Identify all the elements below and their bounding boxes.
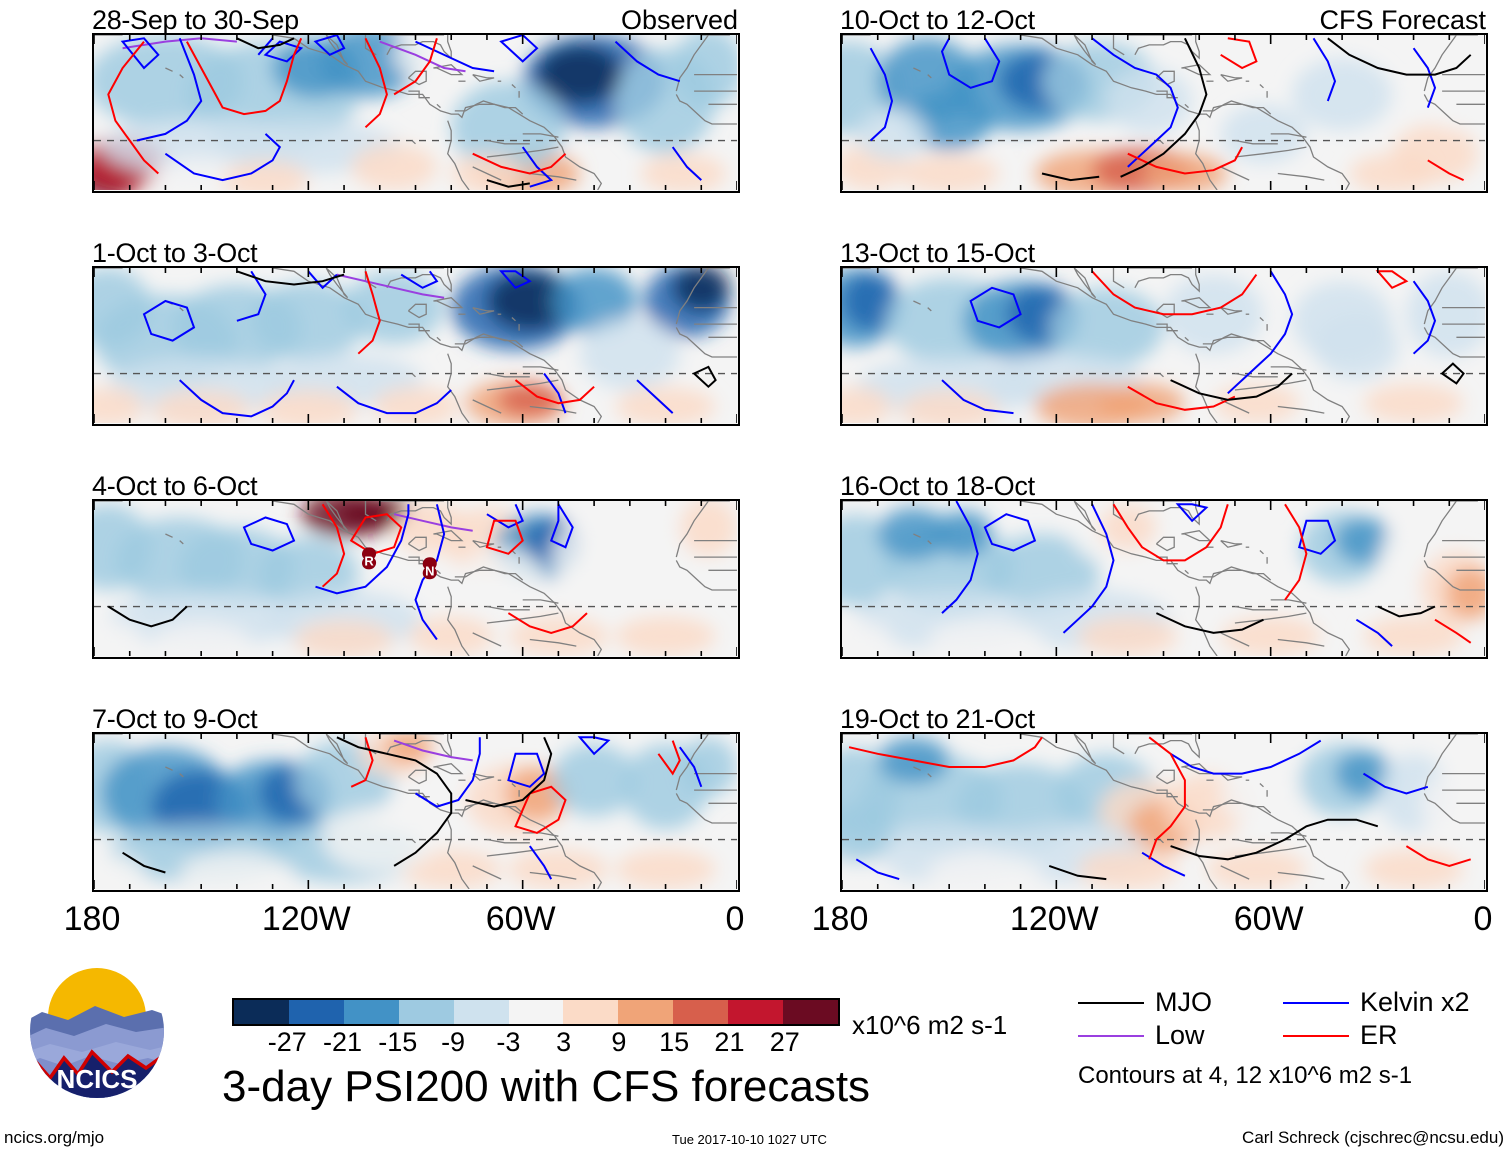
map-panel: 4-Oct to 6-OctRN — [92, 499, 740, 659]
panel-title: 19-Oct to 21-Oct — [840, 704, 1035, 735]
tropical-cyclone-label: N — [425, 563, 434, 578]
map-area — [840, 33, 1488, 193]
field-shading — [537, 45, 623, 104]
footer-timestamp: Tue 2017-10-10 1027 UTC — [672, 1132, 827, 1147]
map-field — [94, 268, 737, 423]
legend-label: ER — [1360, 1020, 1398, 1051]
tropical-cyclone-label: R — [364, 553, 374, 568]
map-panel: 10-Oct to 12-OctCFS Forecast — [840, 33, 1488, 193]
main-title: 3-day PSI200 with CFS forecasts — [222, 1062, 870, 1112]
field-shading — [1078, 849, 1178, 889]
colorbar-segment — [234, 1000, 289, 1024]
logo-text: NCICS — [57, 1064, 138, 1094]
x-axis-label: 180 — [64, 900, 121, 939]
map-panel: 1-Oct to 3-Oct — [92, 266, 740, 426]
legend-line-icon — [1283, 1035, 1349, 1037]
field-shading — [1206, 849, 1306, 889]
colorbar-tick-label: -3 — [496, 1027, 520, 1058]
panel-title: 4-Oct to 6-Oct — [92, 471, 257, 502]
map-field: RN — [94, 501, 737, 656]
legend-note: Contours at 4, 12 x10^6 m2 s-1 — [1078, 1062, 1412, 1090]
field-shading — [856, 108, 927, 161]
field-shading — [1292, 58, 1392, 131]
field-shading — [498, 383, 562, 416]
tropical-cyclone-symbol: N — [423, 557, 437, 579]
colorbar-tick-label: -9 — [441, 1027, 465, 1058]
legend-item-low: Low — [1078, 1019, 1283, 1052]
map-panel: 19-Oct to 21-Oct — [840, 732, 1488, 892]
map-panel: 7-Oct to 9-Oct — [92, 732, 740, 892]
colorbar-tick-label: 27 — [770, 1027, 800, 1058]
colorbar-segment — [618, 1000, 673, 1024]
field-shading — [1364, 383, 1464, 423]
panel-column-header: Observed — [621, 5, 738, 36]
panel-title: 1-Oct to 3-Oct — [92, 238, 257, 269]
field-shading — [351, 144, 437, 190]
colorbar-segment — [454, 1000, 509, 1024]
panel-title: 28-Sep to 30-Sep — [92, 5, 299, 36]
x-axis-label: 0 — [1474, 900, 1493, 939]
map-field — [842, 501, 1485, 656]
colorbar-tick-label: 21 — [714, 1027, 744, 1058]
legend-label: MJO — [1155, 987, 1212, 1018]
footer-website[interactable]: ncics.org/mjo — [4, 1128, 104, 1148]
colorbar-segments — [232, 998, 840, 1026]
colorbar-tick-label: 9 — [611, 1027, 626, 1058]
legend-row: MJO Kelvin x2 — [1078, 986, 1498, 1019]
map-field — [842, 268, 1485, 423]
field-shading — [616, 849, 716, 889]
field-shading — [1314, 314, 1400, 380]
ncics-logo: NCICS — [20, 962, 175, 1100]
map-field — [94, 35, 737, 190]
legend-item-er: ER — [1283, 1019, 1488, 1052]
map-field — [842, 35, 1485, 190]
colorbar-segment — [728, 1000, 783, 1024]
x-axis-label: 60W — [1234, 900, 1304, 939]
colorbar-segment — [563, 1000, 618, 1024]
map-panel: 28-Sep to 30-SepObserved — [92, 33, 740, 193]
map-area: RN — [92, 499, 740, 659]
x-axis-label: 0 — [726, 900, 745, 939]
map-panel: 13-Oct to 15-Oct — [840, 266, 1488, 426]
map-area — [840, 732, 1488, 892]
x-axis-label: 60W — [486, 900, 556, 939]
field-shading — [616, 616, 716, 656]
legend: MJO Kelvin x2 Low ER — [1078, 986, 1498, 1052]
map-area — [92, 33, 740, 193]
field-shading — [344, 271, 444, 344]
panel-title: 13-Oct to 15-Oct — [840, 238, 1035, 269]
panel-title: 7-Oct to 9-Oct — [92, 704, 257, 735]
colorbar-tick-label: -21 — [323, 1027, 362, 1058]
map-area — [840, 499, 1488, 659]
map-field — [842, 734, 1485, 889]
colorbar-segment — [289, 1000, 344, 1024]
colorbar-segment — [399, 1000, 454, 1024]
legend-line-icon — [1078, 1035, 1144, 1037]
field-shading — [1364, 849, 1464, 889]
x-axis-label: 120W — [262, 900, 351, 939]
map-area — [92, 732, 740, 892]
colorbar-ticks: -27-21-15-9-339152127 — [232, 1027, 840, 1059]
map-area — [92, 266, 740, 426]
legend-line-icon — [1283, 1002, 1349, 1004]
colorbar-tick-label: 15 — [659, 1027, 689, 1058]
legend-line-icon — [1078, 1002, 1144, 1004]
x-axis-label: 180 — [812, 900, 869, 939]
footer-author: Carl Schreck (cjschrec@ncsu.edu) — [1242, 1128, 1504, 1148]
legend-label: Kelvin x2 — [1360, 987, 1470, 1018]
legend-label: Low — [1155, 1020, 1205, 1051]
legend-row: Low ER — [1078, 1019, 1498, 1052]
tropical-cyclone-symbol: R — [362, 547, 376, 569]
panel-column-header: CFS Forecast — [1319, 5, 1486, 36]
colorbar-units-label: x10^6 m2 s-1 — [852, 1010, 1007, 1041]
colorbar-segment — [783, 1000, 838, 1024]
field-shading — [458, 547, 544, 613]
colorbar-tick-label: 3 — [556, 1027, 571, 1058]
field-shading — [1078, 616, 1178, 656]
colorbar-segment — [344, 1000, 399, 1024]
field-shading — [1364, 616, 1464, 656]
map-panel: 16-Oct to 18-Oct — [840, 499, 1488, 659]
field-shading — [580, 317, 680, 390]
panel-grid: 30N20N10N010S28-Sep to 30-SepObserved10-… — [0, 0, 1510, 900]
legend-item-mjo: MJO — [1078, 986, 1283, 1019]
field-shading — [935, 511, 992, 557]
field-shading — [1099, 383, 1185, 423]
colorbar-segment — [509, 1000, 564, 1024]
panel-title: 16-Oct to 18-Oct — [840, 471, 1035, 502]
field-shading — [1106, 68, 1192, 134]
colorbar-tick-label: -15 — [378, 1027, 417, 1058]
panel-title: 10-Oct to 12-Oct — [840, 5, 1035, 36]
colorbar-segment — [673, 1000, 728, 1024]
colorbar — [232, 998, 840, 1026]
field-shading — [1221, 104, 1307, 163]
x-axis-label: 120W — [1010, 900, 1099, 939]
colorbar-tick-label: -27 — [268, 1027, 307, 1058]
map-area — [840, 266, 1488, 426]
map-field — [94, 734, 737, 889]
legend-item-kelvin: Kelvin x2 — [1283, 986, 1488, 1019]
field-shading — [680, 737, 737, 796]
